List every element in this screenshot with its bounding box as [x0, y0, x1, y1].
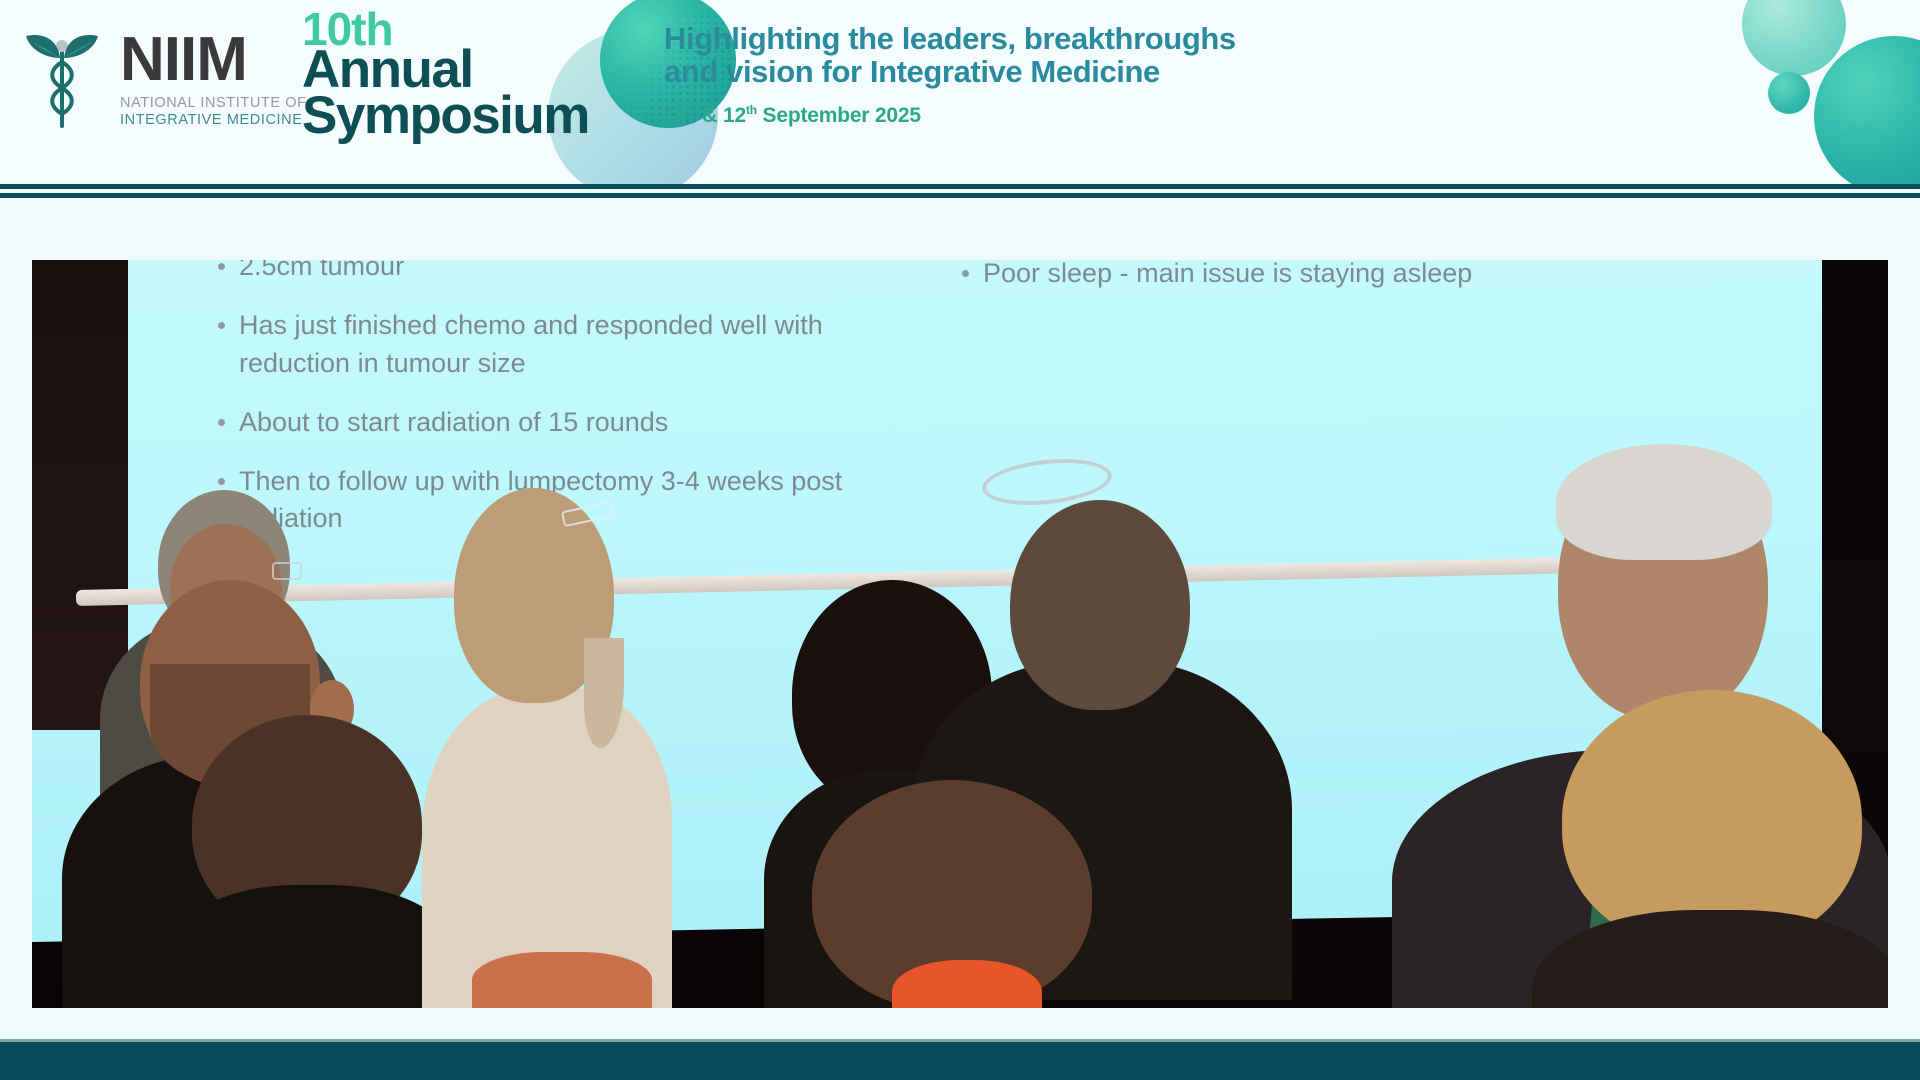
- bullet-dot-icon: [218, 263, 225, 270]
- date-day-2-suffix: th: [746, 103, 757, 117]
- slide-bullet-text: About to start radiation of 15 rounds: [239, 404, 668, 441]
- bullet-dot-icon: [218, 322, 225, 329]
- niim-logo-lockup: NIIM NATIONAL INSTITUTE OF INTEGRATIVE M…: [16, 22, 307, 134]
- event-word-symposium: Symposium: [302, 92, 589, 141]
- bullet-dot-icon: [218, 478, 225, 485]
- slide-bullet-text: Has just finished chemo and responded we…: [239, 307, 918, 382]
- audience-front-row-orange-strip: [472, 952, 1032, 1008]
- date-day-2: 12: [723, 104, 746, 127]
- slide-bullet: About to start radiation of 15 rounds: [218, 404, 918, 441]
- header-divider-line-bottom: [0, 193, 1920, 198]
- tagline-line-1: Highlighting the leaders, breakthroughs: [664, 22, 1236, 55]
- decorative-circle-right-small-light: [1742, 0, 1846, 76]
- logo-subtitle-line1: NATIONAL INSTITUTE OF: [120, 96, 307, 111]
- audience-woman-blonde-foreground-right: [1562, 690, 1862, 1008]
- event-date: 11th & 12th September 2025: [664, 103, 1236, 128]
- header-divider-line-top: [0, 184, 1920, 189]
- decorative-circle-right-tiny: [1768, 72, 1810, 114]
- logo-subtitle-line2: INTEGRATIVE MEDICINE: [120, 113, 307, 128]
- audience-dark-head-front-left-2: [192, 715, 422, 1008]
- event-header-banner: NIIM NATIONAL INSTITUTE OF INTEGRATIVE M…: [0, 0, 1920, 184]
- date-day-1-suffix: th: [686, 103, 697, 117]
- slide-bullet: Has just finished chemo and responded we…: [218, 307, 918, 382]
- audience-woman-blonde-bob-cream-sweater: [412, 488, 642, 1008]
- logo-acronym: NIIM: [120, 29, 307, 91]
- session-photo: 2.5cm tumour Has just finished chemo and…: [32, 260, 1888, 1008]
- bullet-dot-icon: [962, 270, 969, 277]
- date-day-1: 11: [664, 104, 686, 127]
- event-tagline-block: Highlighting the leaders, breakthroughs …: [664, 22, 1236, 128]
- tagline-line-2: and vision for Integrative Medicine: [664, 55, 1236, 88]
- niim-caduceus-leaf-logo: [16, 22, 108, 134]
- page-bottom-bar: [0, 1042, 1920, 1080]
- symposium-slide-page: NIIM NATIONAL INSTITUTE OF INTEGRATIVE M…: [0, 0, 1920, 1080]
- slide-bullet-text: 2.5cm tumour: [239, 260, 404, 285]
- slide-bullet: 2.5cm tumour: [218, 260, 918, 285]
- slide-bullet-text: Poor sleep - main issue is staying aslee…: [983, 260, 1472, 293]
- date-separator: &: [697, 104, 723, 127]
- slide-bullets-right-column: Stress - high, 3 kids in high school, 1 …: [962, 260, 1602, 315]
- event-wordmark: 10th Annual Symposium: [302, 8, 589, 141]
- slide-bullet: Poor sleep - main issue is staying aslee…: [962, 260, 1602, 293]
- date-month-year: September 2025: [757, 104, 921, 127]
- bullet-dot-icon: [218, 419, 225, 426]
